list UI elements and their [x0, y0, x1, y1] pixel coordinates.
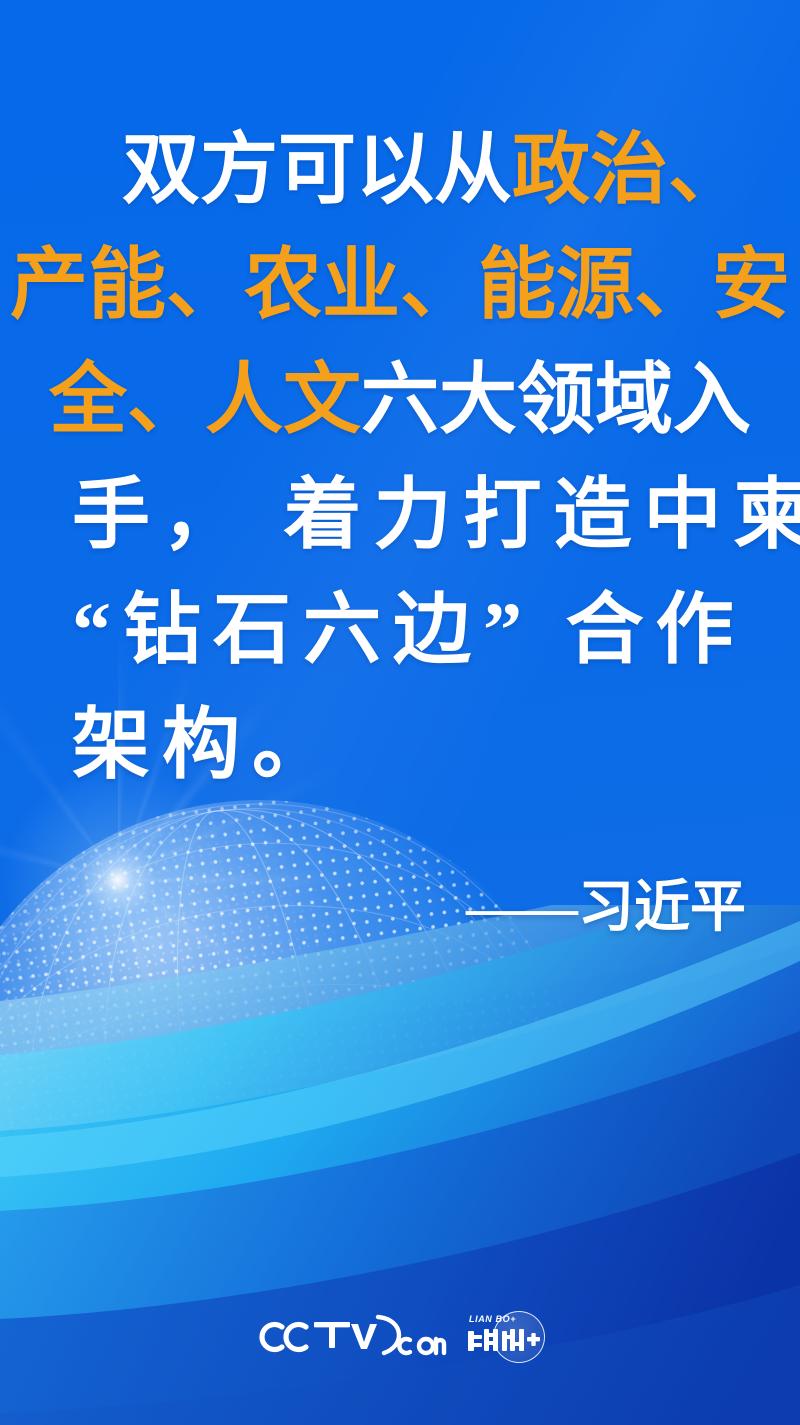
quote-line-3-orange-a: 全、	[49, 356, 205, 443]
quote-line-3: 全、人文六大领域入	[0, 342, 800, 457]
svg-text:LIAN BO+: LIAN BO+	[469, 1314, 516, 1324]
brand-logo-bar: CCTV.com 央视网 LIAN BO+	[0, 1305, 800, 1367]
cctv-logo[interactable]: CCTV.com 央视网	[258, 1313, 448, 1359]
lianbo-logo[interactable]: LIAN BO+	[465, 1311, 543, 1361]
quote-line-1-white: 双方可以从	[122, 126, 512, 213]
quote-line-2: 产能、农业、能源、安	[0, 227, 800, 342]
quote-line-3-white: 六大领域入	[361, 356, 751, 443]
quote-attribution: ——习近平	[466, 862, 746, 943]
lianbo-wordmark-icon: LIAN BO+	[465, 1311, 543, 1361]
quote-line-1-orange: 政治、	[512, 126, 746, 213]
quote-line-6: 架构。	[0, 687, 800, 802]
quote-line-4: 手， 着力打造中柬	[0, 457, 800, 572]
quote-line-1: 双方可以从政治、	[0, 112, 800, 227]
poster-canvas: 双方可以从政治、 产能、农业、能源、安 全、人文六大领域入 手， 着力打造中柬 …	[0, 0, 800, 1425]
quote-line-3-orange-b: 人文	[205, 356, 361, 443]
quote-block: 双方可以从政治、 产能、农业、能源、安 全、人文六大领域入 手， 着力打造中柬 …	[0, 112, 800, 802]
quote-line-5: “钻石六边” 合作	[0, 572, 800, 687]
cctv-wordmark-icon	[258, 1313, 448, 1359]
